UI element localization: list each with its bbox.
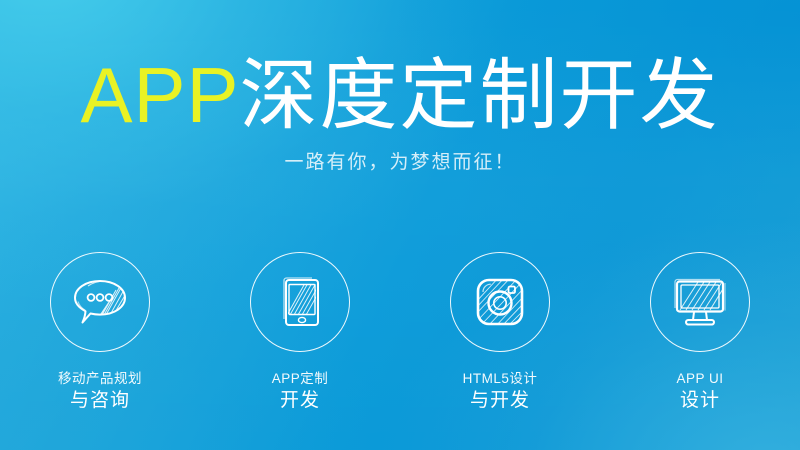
icon-ring [250,252,350,352]
feature-label-top: APP定制 [272,369,329,388]
feature-item-app-ui[interactable]: APP UI 设计 [600,252,800,413]
feature-item-html5[interactable]: HTML5设计 与开发 [400,252,600,413]
feature-label-top: HTML5设计 [463,369,538,388]
monitor-icon [668,274,732,330]
feature-list: 移动产品规划 与咨询 [0,252,800,413]
speech-bubble-icon [69,276,131,328]
headline-accent-text: APP [80,51,239,139]
page-subtitle: 一路有你，为梦想而征！ [0,150,800,176]
icon-ring [50,252,150,352]
feature-labels: APP UI 设计 [676,369,723,413]
feature-labels: 移动产品规划 与咨询 [58,369,142,413]
icon-ring [650,252,750,352]
tablet-icon [272,271,328,333]
headline-plain-text: 深度定制开发 [240,51,720,139]
feature-label-bottom: 与开发 [463,388,538,413]
feature-labels: APP定制 开发 [272,369,329,413]
feature-label-top: APP UI [676,369,723,388]
feature-label-bottom: 开发 [272,388,329,413]
icon-ring [450,252,550,352]
promo-banner: APP深度定制开发 一路有你，为梦想而征！ [0,0,800,450]
page-title: APP深度定制开发 [0,53,800,137]
feature-label-bottom: 与咨询 [58,388,142,413]
feature-item-app-development[interactable]: APP定制 开发 [200,252,400,413]
feature-label-bottom: 设计 [676,388,723,413]
feature-labels: HTML5设计 与开发 [463,369,538,413]
feature-item-planning[interactable]: 移动产品规划 与咨询 [0,252,200,413]
feature-label-top: 移动产品规划 [58,369,142,388]
camera-icon [470,272,530,332]
